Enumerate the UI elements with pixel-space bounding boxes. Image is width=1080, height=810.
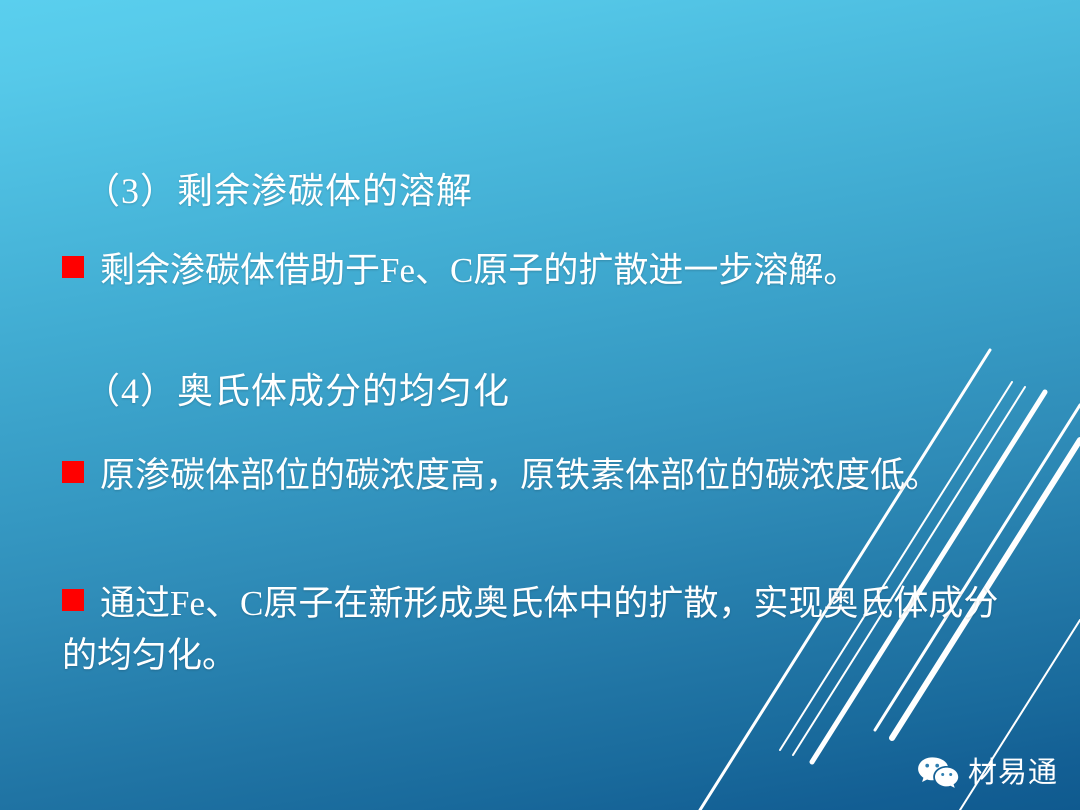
watermark: 材易通 xyxy=(917,756,1058,790)
slide-content: （3）剩余渗碳体的溶解 剩余渗碳体借助于Fe、C原子的扩散进一步溶解。 （4）奥… xyxy=(0,0,1080,810)
square-bullet-icon xyxy=(62,461,84,483)
bullet-text: 通过Fe、C原子在新形成奥氏体中的扩散，实现奥氏体成分的均匀化。 xyxy=(62,584,998,675)
bullet-item: 剩余渗碳体借助于Fe、C原子的扩散进一步溶解。 xyxy=(62,245,1072,297)
bullet-text: 原渗碳体部位的碳浓度高，原铁素体部位的碳浓度低。 xyxy=(100,456,940,495)
square-bullet-icon xyxy=(62,256,84,278)
bullet-item: 原渗碳体部位的碳浓度高，原铁素体部位的碳浓度低。 xyxy=(62,450,1022,502)
section-heading-3: （3）剩余渗碳体的溶解 xyxy=(84,170,473,213)
wechat-icon xyxy=(917,756,959,790)
slide-canvas: （3）剩余渗碳体的溶解 剩余渗碳体借助于Fe、C原子的扩散进一步溶解。 （4）奥… xyxy=(0,0,1080,810)
bullet-item: 通过Fe、C原子在新形成奥氏体中的扩散，实现奥氏体成分的均匀化。 xyxy=(62,578,1022,682)
square-bullet-icon xyxy=(62,589,84,611)
bullet-text: 剩余渗碳体借助于Fe、C原子的扩散进一步溶解。 xyxy=(100,251,858,290)
section-heading-4: （4）奥氏体成分的均匀化 xyxy=(84,370,510,413)
watermark-label: 材易通 xyxy=(968,759,1058,788)
